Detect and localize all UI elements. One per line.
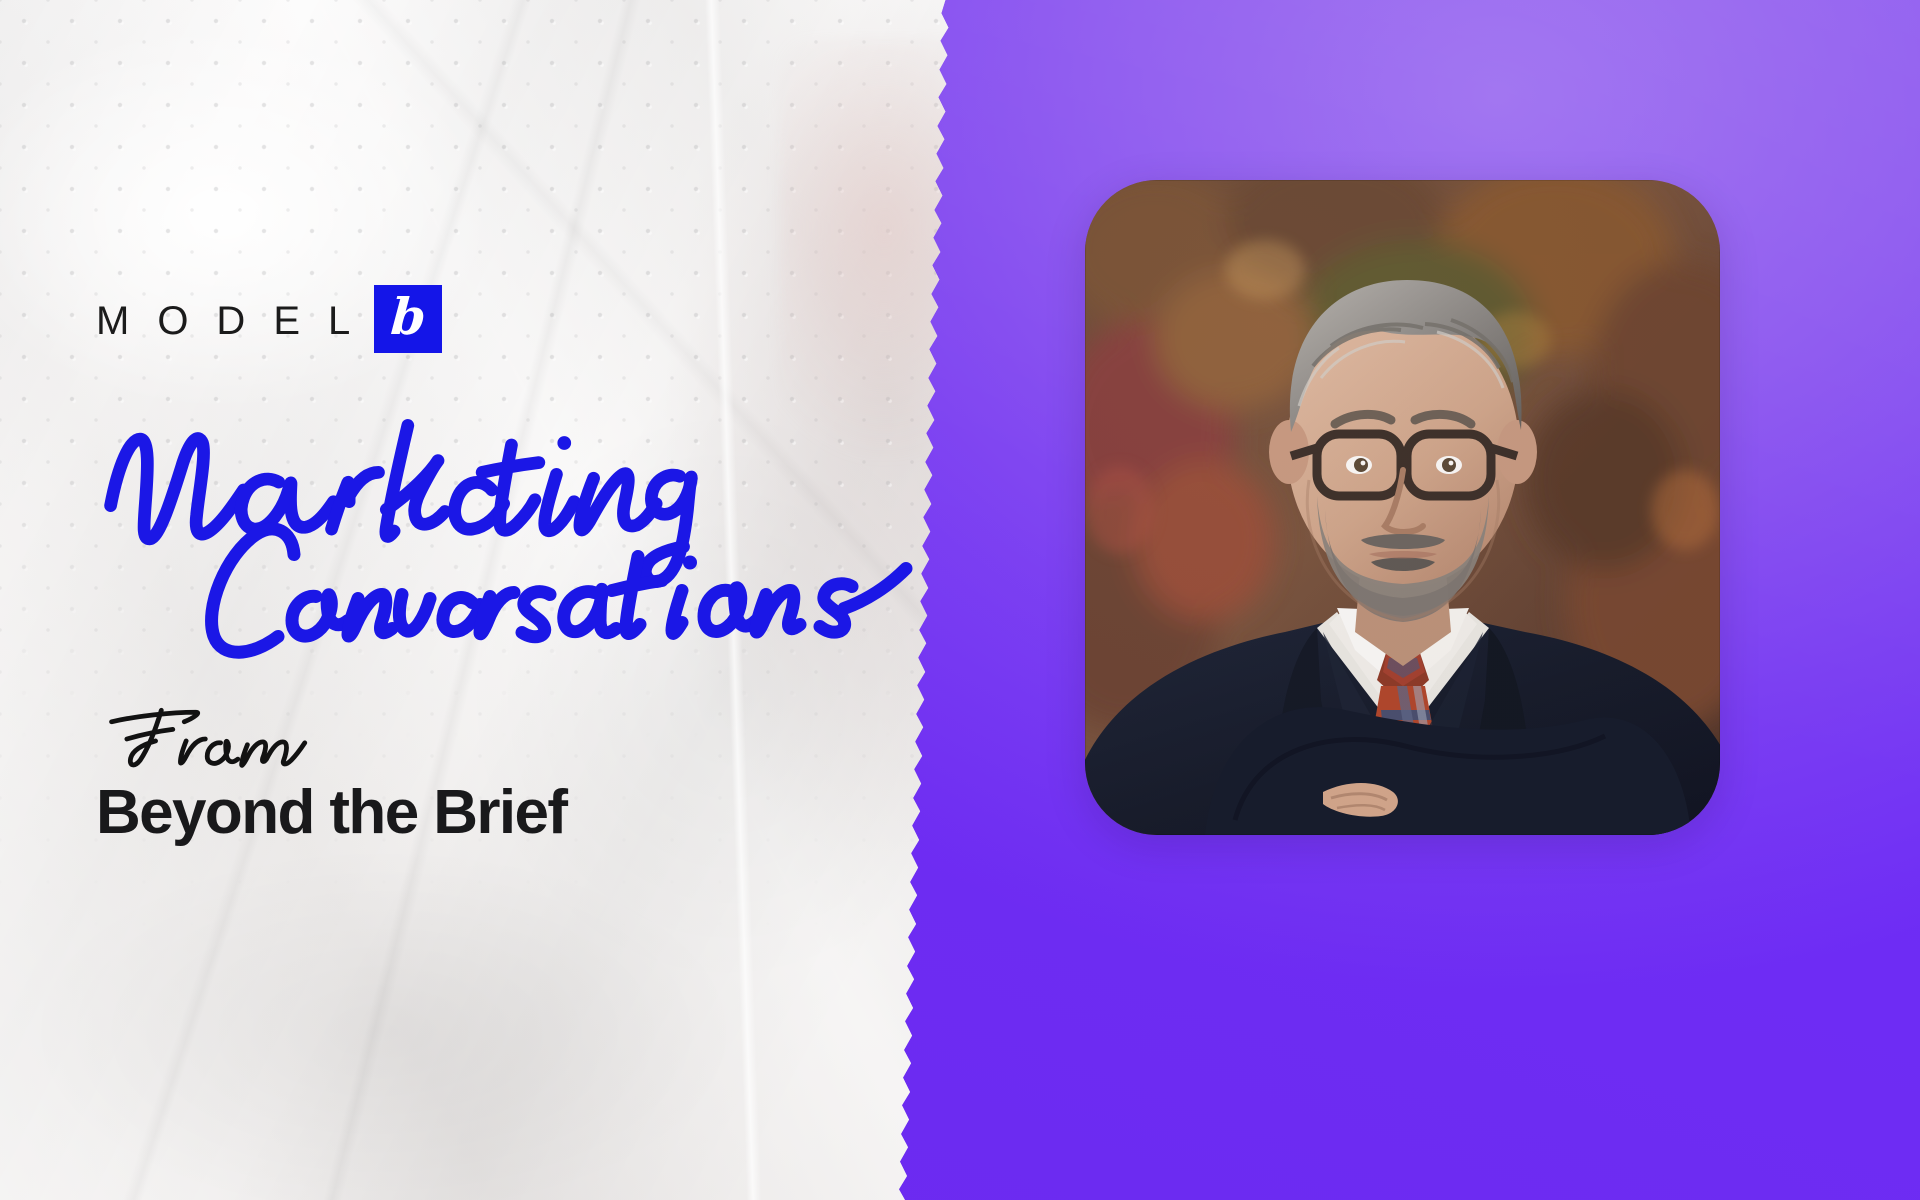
from-label-script: From [102,704,322,774]
show-title: Beyond the Brief [96,782,566,844]
guest-portrait: Man with gray hair, dark-rimmed glasses … [1085,180,1720,835]
headline-script-line2: Conversations [166,476,926,696]
left-content-column: MODEL b Marketing [96,0,856,1200]
model-b-logo[interactable]: MODEL b [96,285,442,353]
podcast-cover-canvas: MODEL b Marketing [0,0,1920,1200]
model-b-badge: b [374,285,442,353]
badge-letter-b: b [389,292,427,342]
model-wordmark: MODEL [96,298,378,341]
